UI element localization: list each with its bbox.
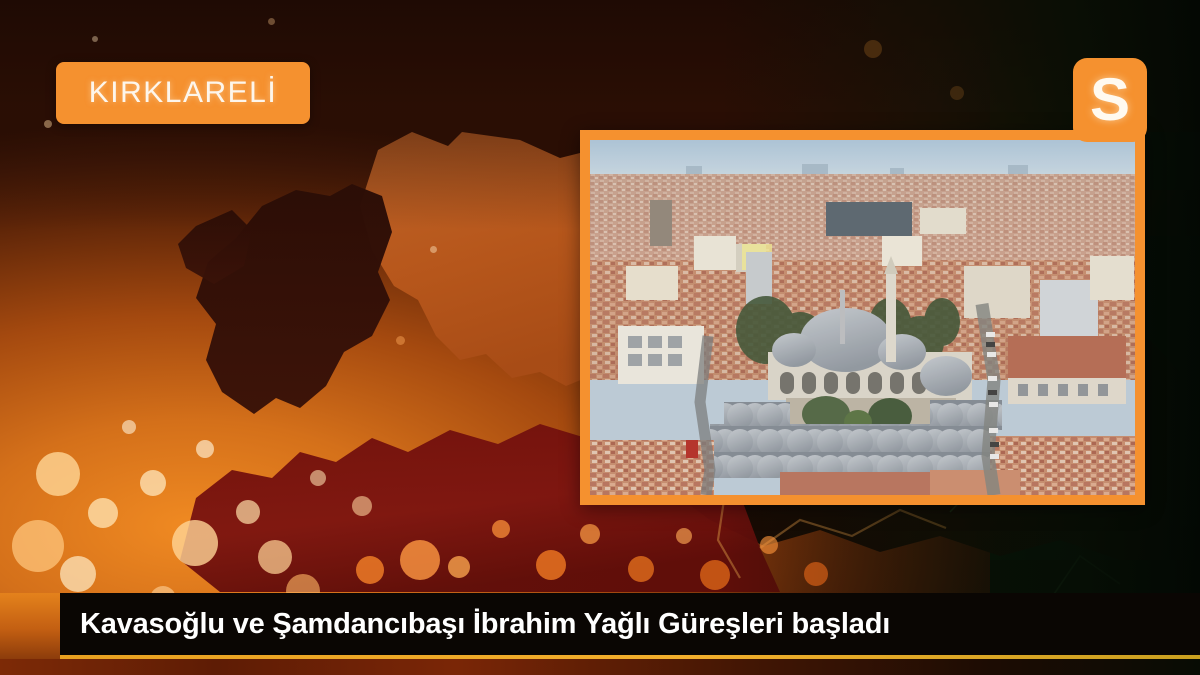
channel-logo: S: [1073, 58, 1147, 142]
caption-headline: Kavasoğlu ve Şamdancıbaşı İbrahim Yağlı …: [60, 608, 890, 641]
province-badge: KIRKLARELİ: [56, 62, 310, 124]
caption-left-strip: [0, 593, 60, 659]
thumbnail-canvas: KIRKLARELİ: [0, 0, 1200, 675]
inset-photo: [590, 140, 1135, 495]
inset-photo-frame: [580, 130, 1145, 505]
province-badge-label: KIRKLARELİ: [89, 76, 277, 110]
caption-bar: Kavasoğlu ve Şamdancıbaşı İbrahim Yağlı …: [60, 593, 1200, 655]
s-logo-icon: S: [1090, 70, 1130, 130]
aerial-city-photo-graphic: [590, 140, 1135, 495]
caption-footer-strip: [0, 659, 1200, 675]
